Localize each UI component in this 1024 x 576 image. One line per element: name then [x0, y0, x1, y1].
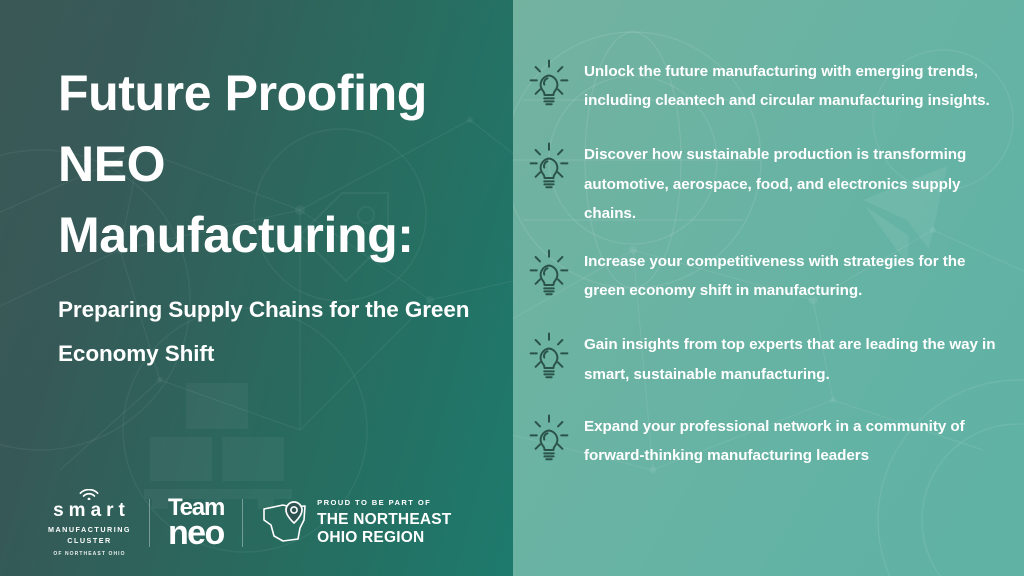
benefit-item: Increase your competitiveness with strat… [522, 242, 1024, 305]
neo-region-line-northeast: THE NORTHEAST [317, 511, 451, 529]
lightbulb-icon [522, 242, 584, 303]
wifi-signal-icon [78, 489, 100, 500]
smart-logo-line-manufacturing: MANUFACTURING [48, 525, 131, 536]
benefits-list: Unlock the future manufacturing with eme… [522, 52, 1024, 470]
pallet-boxes-watermark [144, 383, 292, 509]
neo-region-line-proud: PROUD TO BE PART OF [317, 499, 451, 507]
benefit-item: Discover how sustainable production is t… [522, 135, 1024, 228]
left-panel: Future Proofing NEO Manufacturing: Prepa… [0, 0, 513, 576]
smart-logo-line-cluster: CLUSTER [67, 536, 111, 547]
smart-logo-line-region: OF NORTHEAST OHIO [53, 551, 125, 557]
benefit-item: Gain insights from top experts that are … [522, 325, 1024, 388]
smart-logo-wordmark: smart [53, 501, 130, 520]
logo-bar: smart MANUFACTURING CLUSTER OF NORTHEAST… [48, 492, 451, 554]
slide-canvas: Future Proofing NEO Manufacturing: Prepa… [0, 0, 1024, 576]
benefit-item: Expand your professional network in a co… [522, 407, 1024, 470]
benefit-text: Gain insights from top experts that are … [584, 325, 996, 388]
slide-headline: Future Proofing NEO Manufacturing: [58, 58, 498, 271]
logo-divider-2 [242, 499, 243, 547]
logo-team-neo: Team neo [168, 498, 224, 549]
lightbulb-icon [522, 52, 584, 113]
benefit-text: Increase your competitiveness with strat… [584, 242, 996, 305]
lightbulb-icon [522, 325, 584, 386]
benefit-text: Expand your professional network in a co… [584, 407, 996, 470]
ohio-map-pin-icon [261, 498, 309, 549]
team-neo-line-neo: neo [168, 519, 224, 548]
lightbulb-icon [522, 135, 584, 196]
logo-divider-1 [149, 499, 150, 547]
logo-smart-manufacturing-cluster: smart MANUFACTURING CLUSTER OF NORTHEAST… [48, 489, 131, 558]
benefit-text: Discover how sustainable production is t… [584, 135, 996, 228]
neo-region-line-ohio: OHIO REGION [317, 529, 451, 547]
logo-northeast-ohio-region: PROUD TO BE PART OF THE NORTHEAST OHIO R… [261, 498, 451, 549]
benefit-text: Unlock the future manufacturing with eme… [584, 52, 996, 115]
slide-subheadline: Preparing Supply Chains for the Green Ec… [58, 288, 478, 376]
lightbulb-icon [522, 407, 584, 468]
right-panel: Unlock the future manufacturing with eme… [513, 0, 1024, 576]
benefit-item: Unlock the future manufacturing with eme… [522, 52, 1024, 115]
